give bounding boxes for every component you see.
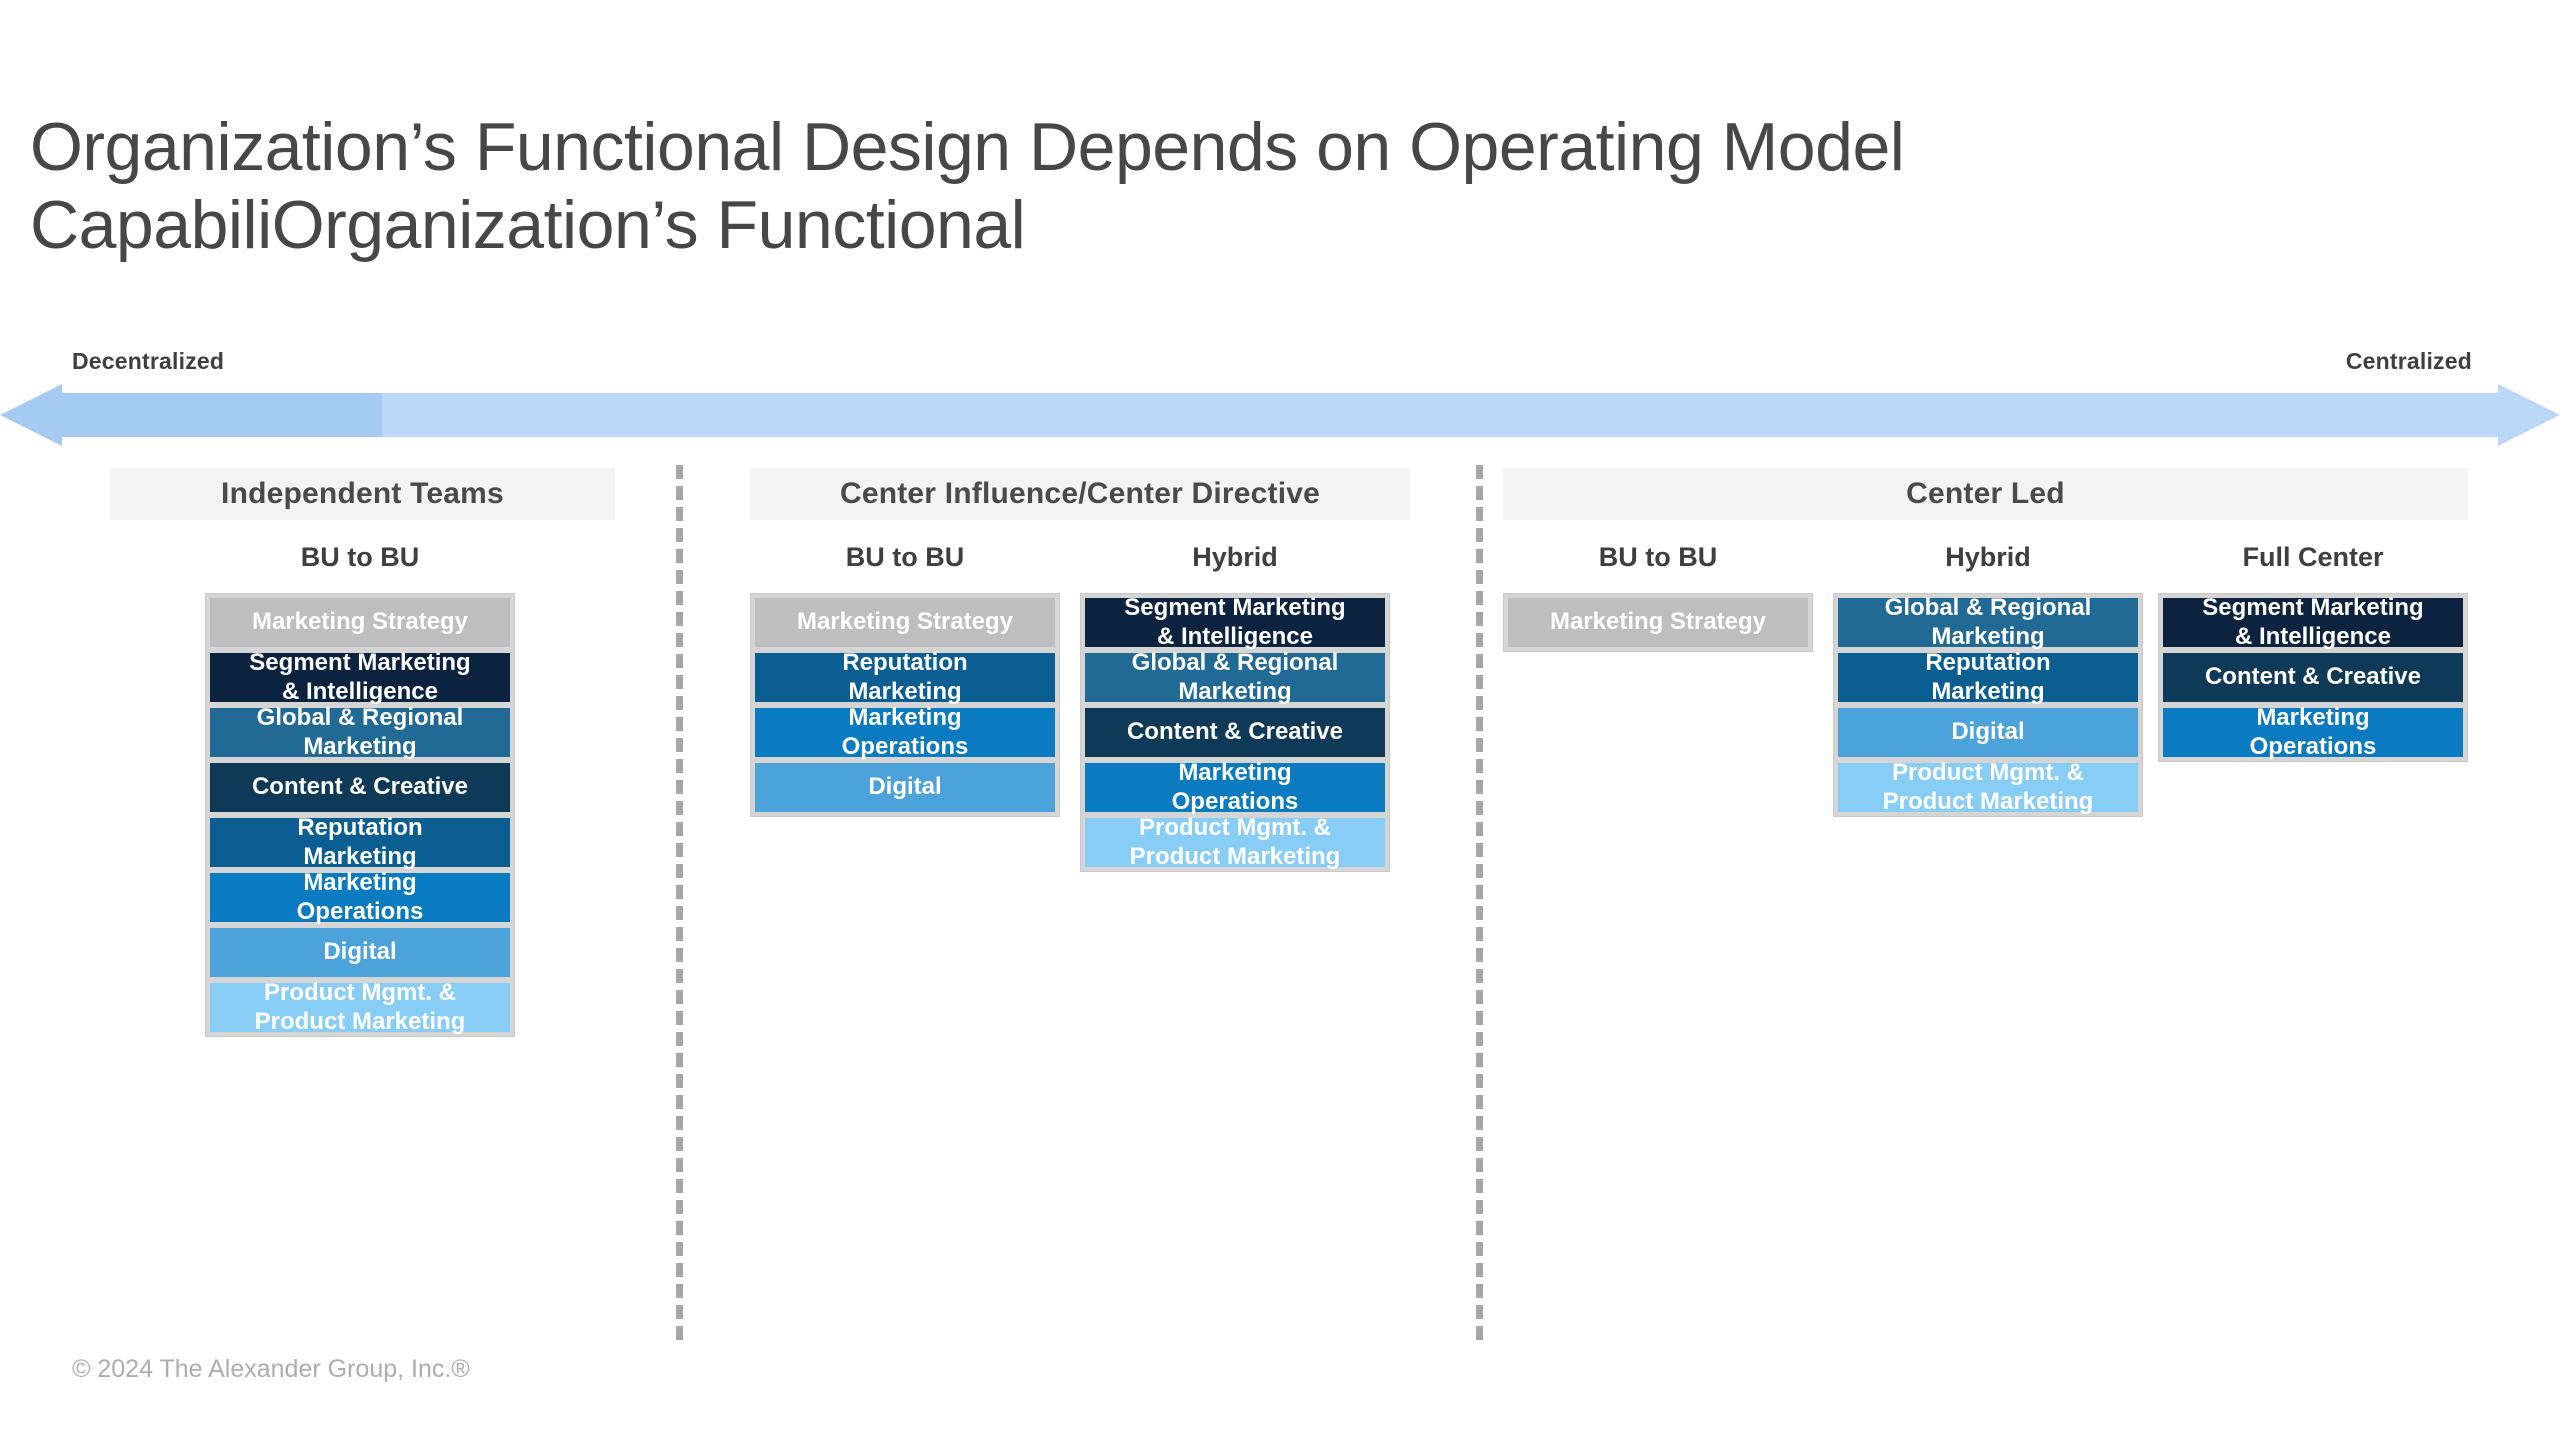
- subcolumn-label-center-led-hybrid: Hybrid: [1945, 538, 2031, 576]
- function-stack-center-led-hybrid: Global & Regional MarketingReputation Ma…: [1833, 593, 2143, 817]
- group-header-independent-teams: Independent Teams: [110, 468, 615, 520]
- arrow-head-right-icon: [2498, 384, 2560, 446]
- function-box[interactable]: Marketing Operations: [2163, 708, 2463, 757]
- subcolumn-center-influence-directive-hybrid: HybridSegment Marketing & IntelligenceGl…: [1080, 538, 1390, 872]
- function-box-label: Reputation Marketing: [842, 649, 967, 706]
- function-box[interactable]: Product Mgmt. & Product Marketing: [1838, 763, 2138, 812]
- function-box-label: Marketing Strategy: [797, 608, 1013, 636]
- subcolumn-center-led-hybrid: HybridGlobal & Regional MarketingReputat…: [1833, 538, 2143, 817]
- group-independent-teams: Independent TeamsBU to BUMarketing Strat…: [110, 468, 615, 1358]
- function-box-label: Marketing Operations: [297, 869, 424, 926]
- function-box[interactable]: Marketing Operations: [755, 708, 1055, 757]
- function-box[interactable]: Marketing Strategy: [755, 598, 1055, 647]
- function-box[interactable]: Digital: [755, 763, 1055, 812]
- function-box[interactable]: Reputation Marketing: [1838, 653, 2138, 702]
- function-box[interactable]: Marketing Strategy: [1508, 598, 1808, 647]
- function-stack-center-influence-directive-bu-to-bu: Marketing StrategyReputation MarketingMa…: [750, 593, 1060, 817]
- function-box-label: Global & Regional Marketing: [257, 704, 464, 761]
- function-box-label: Product Mgmt. & Product Marketing: [1883, 759, 2094, 816]
- arrow-bar-accent: [56, 393, 382, 437]
- group-divider-2: [1476, 465, 1483, 1340]
- function-box-label: Marketing Operations: [2250, 704, 2377, 761]
- subcolumn-label-center-led-full-center: Full Center: [2242, 538, 2383, 576]
- function-box[interactable]: Content & Creative: [2163, 653, 2463, 702]
- subcolumn-center-led-bu-to-bu: BU to BUMarketing Strategy: [1503, 538, 1813, 652]
- function-box[interactable]: Global & Regional Marketing: [210, 708, 510, 757]
- copyright-footer: © 2024 The Alexander Group, Inc.®: [72, 1355, 470, 1384]
- function-box[interactable]: Segment Marketing & Intelligence: [2163, 598, 2463, 647]
- arrow-head-left-icon: [0, 384, 62, 446]
- function-box-label: Content & Creative: [1127, 718, 1343, 746]
- function-stack-independent-teams-bu-to-bu: Marketing StrategySegment Marketing & In…: [205, 593, 515, 1037]
- function-box-label: Global & Regional Marketing: [1885, 594, 2092, 651]
- spectrum-label-centralized: Centralized: [2346, 348, 2472, 375]
- group-center-influence-directive: Center Influence/Center DirectiveBU to B…: [750, 468, 1410, 1358]
- function-box-label: Marketing Strategy: [1550, 608, 1766, 636]
- function-stack-center-led-full-center: Segment Marketing & IntelligenceContent …: [2158, 593, 2468, 762]
- subcolumns-center-influence-directive: BU to BUMarketing StrategyReputation Mar…: [750, 538, 1410, 1358]
- function-box-label: Digital: [868, 773, 941, 801]
- function-box[interactable]: Marketing Operations: [1085, 763, 1385, 812]
- subcolumn-label-center-influence-directive-hybrid: Hybrid: [1192, 538, 1278, 576]
- centralization-spectrum: Decentralized Centralized: [0, 340, 2560, 450]
- function-box[interactable]: Segment Marketing & Intelligence: [210, 653, 510, 702]
- function-box[interactable]: Digital: [210, 928, 510, 977]
- group-divider-1: [676, 465, 683, 1340]
- function-box[interactable]: Content & Creative: [1085, 708, 1385, 757]
- page-title: Organization’s Functional Design Depends…: [30, 108, 2510, 264]
- function-box-label: Marketing Operations: [1172, 759, 1299, 816]
- subcolumn-independent-teams-bu-to-bu: BU to BUMarketing StrategySegment Market…: [205, 538, 515, 1037]
- function-stack-center-led-bu-to-bu: Marketing Strategy: [1503, 593, 1813, 652]
- subcolumn-label-center-led-bu-to-bu: BU to BU: [1599, 538, 1717, 576]
- function-box-label: Marketing Operations: [842, 704, 969, 761]
- function-box[interactable]: Global & Regional Marketing: [1838, 598, 2138, 647]
- function-stack-center-influence-directive-hybrid: Segment Marketing & IntelligenceGlobal &…: [1080, 593, 1390, 872]
- function-box[interactable]: Reputation Marketing: [210, 818, 510, 867]
- function-box[interactable]: Marketing Operations: [210, 873, 510, 922]
- function-box-label: Segment Marketing & Intelligence: [249, 649, 470, 706]
- spectrum-label-decentralized: Decentralized: [72, 348, 224, 375]
- subcolumns-center-led: BU to BUMarketing StrategyHybridGlobal &…: [1503, 538, 2468, 1358]
- function-box[interactable]: Content & Creative: [210, 763, 510, 812]
- function-box-label: Content & Creative: [2205, 663, 2421, 691]
- function-box-label: Product Mgmt. & Product Marketing: [1130, 814, 1341, 871]
- function-box[interactable]: Global & Regional Marketing: [1085, 653, 1385, 702]
- group-header-center-led: Center Led: [1503, 468, 2468, 520]
- function-box[interactable]: Reputation Marketing: [755, 653, 1055, 702]
- function-box-label: Global & Regional Marketing: [1132, 649, 1339, 706]
- function-box-label: Digital: [1951, 718, 2024, 746]
- subcolumn-label-center-influence-directive-bu-to-bu: BU to BU: [846, 538, 964, 576]
- function-box-label: Content & Creative: [252, 773, 468, 801]
- function-box[interactable]: Digital: [1838, 708, 2138, 757]
- function-box[interactable]: Product Mgmt. & Product Marketing: [210, 983, 510, 1032]
- function-box-label: Marketing Strategy: [252, 608, 468, 636]
- function-box-label: Product Mgmt. & Product Marketing: [255, 979, 466, 1036]
- double-arrow-icon: [0, 384, 2560, 446]
- function-box-label: Digital: [323, 938, 396, 966]
- group-header-center-influence-directive: Center Influence/Center Directive: [750, 468, 1410, 520]
- function-box[interactable]: Product Mgmt. & Product Marketing: [1085, 818, 1385, 867]
- function-box[interactable]: Segment Marketing & Intelligence: [1085, 598, 1385, 647]
- function-box-label: Reputation Marketing: [1925, 649, 2050, 706]
- function-box-label: Reputation Marketing: [297, 814, 422, 871]
- function-box[interactable]: Marketing Strategy: [210, 598, 510, 647]
- subcolumn-center-influence-directive-bu-to-bu: BU to BUMarketing StrategyReputation Mar…: [750, 538, 1060, 817]
- subcolumn-center-led-full-center: Full CenterSegment Marketing & Intellige…: [2158, 538, 2468, 762]
- function-box-label: Segment Marketing & Intelligence: [2202, 594, 2423, 651]
- arrow-bar: [56, 393, 2504, 437]
- subcolumns-independent-teams: BU to BUMarketing StrategySegment Market…: [110, 538, 615, 1358]
- function-box-label: Segment Marketing & Intelligence: [1124, 594, 1345, 651]
- group-center-led: Center LedBU to BUMarketing StrategyHybr…: [1503, 468, 2468, 1358]
- subcolumn-label-independent-teams-bu-to-bu: BU to BU: [301, 538, 419, 576]
